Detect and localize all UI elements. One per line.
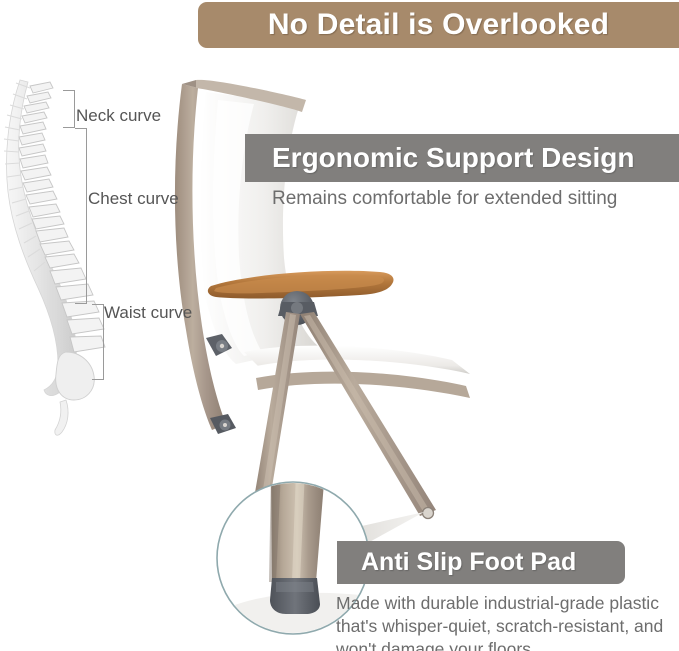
feature-title-ergonomic: Ergonomic Support Design [272, 142, 634, 174]
bracket-neck-icon [63, 90, 75, 128]
feature-subtitle-ergonomic: Remains comfortable for extended sitting [272, 188, 672, 210]
backrest-bottom-hinge-icon [210, 414, 236, 434]
infographic-page: No Detail is Overlooked Neck curve Chest… [0, 0, 679, 651]
bracket-chest-icon [75, 128, 87, 304]
spine-label-neck: Neck curve [76, 106, 161, 126]
feature-description-anti-slip: Made with durable industrial-grade plast… [336, 592, 676, 651]
header-title: No Detail is Overlooked [268, 8, 609, 42]
bracket-waist-icon [92, 304, 104, 380]
spine-label-waist: Waist curve [104, 303, 192, 323]
header-banner: No Detail is Overlooked [198, 2, 679, 48]
spine-icon [4, 80, 105, 435]
spine-label-chest: Chest curve [88, 189, 179, 209]
feature-title-anti-slip: Anti Slip Foot Pad [361, 548, 576, 577]
feature-banner-ergonomic: Ergonomic Support Design [245, 134, 679, 182]
lower-hinge-icon [206, 334, 232, 356]
feature-banner-anti-slip: Anti Slip Foot Pad [337, 541, 625, 584]
